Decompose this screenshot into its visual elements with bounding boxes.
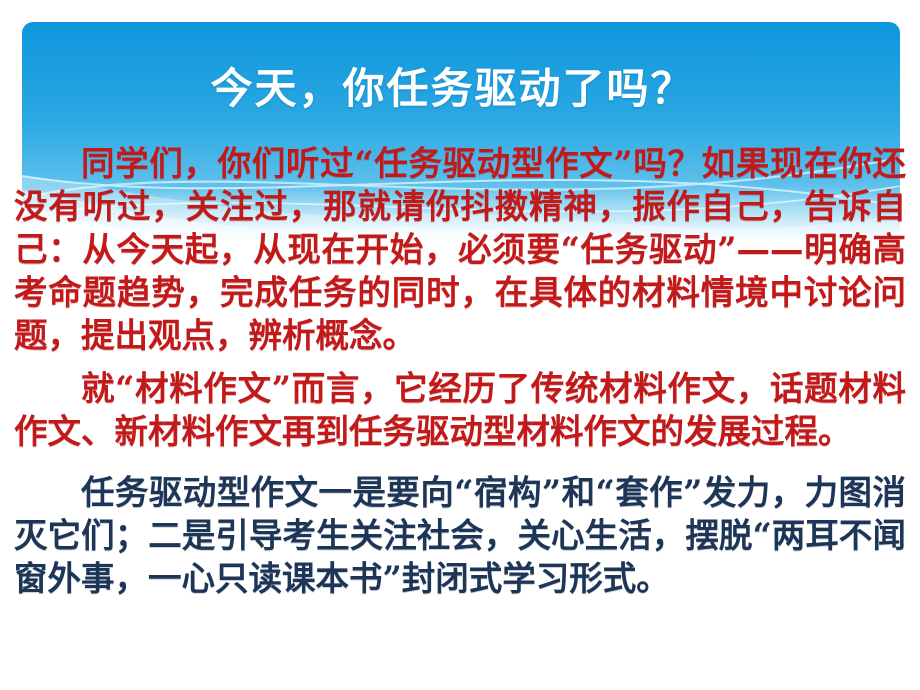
body-paragraph-3: 任务驱动型作文一是要向“宿构”和“套作”发力，力图消灭它们；二是引导考生关注社会… xyxy=(0,471,920,600)
slide-title: 今天，你任务驱动了吗？ xyxy=(0,66,905,112)
body-paragraph-1: 同学们，你们听过“任务驱动型作文”吗？如果现在你还没有听过，关注过，那就请你抖擞… xyxy=(0,142,920,357)
presentation-slide: 今天，你任务驱动了吗？ 同学们，你们听过“任务驱动型作文”吗？如果现在你还没有听… xyxy=(0,0,920,690)
body-paragraph-2: 就“材料作文”而言，它经历了传统材料作文，话题材料作文、新材料作文再到任务驱动型… xyxy=(0,367,920,453)
slide-body: 同学们，你们听过“任务驱动型作文”吗？如果现在你还没有听过，关注过，那就请你抖擞… xyxy=(0,142,920,600)
